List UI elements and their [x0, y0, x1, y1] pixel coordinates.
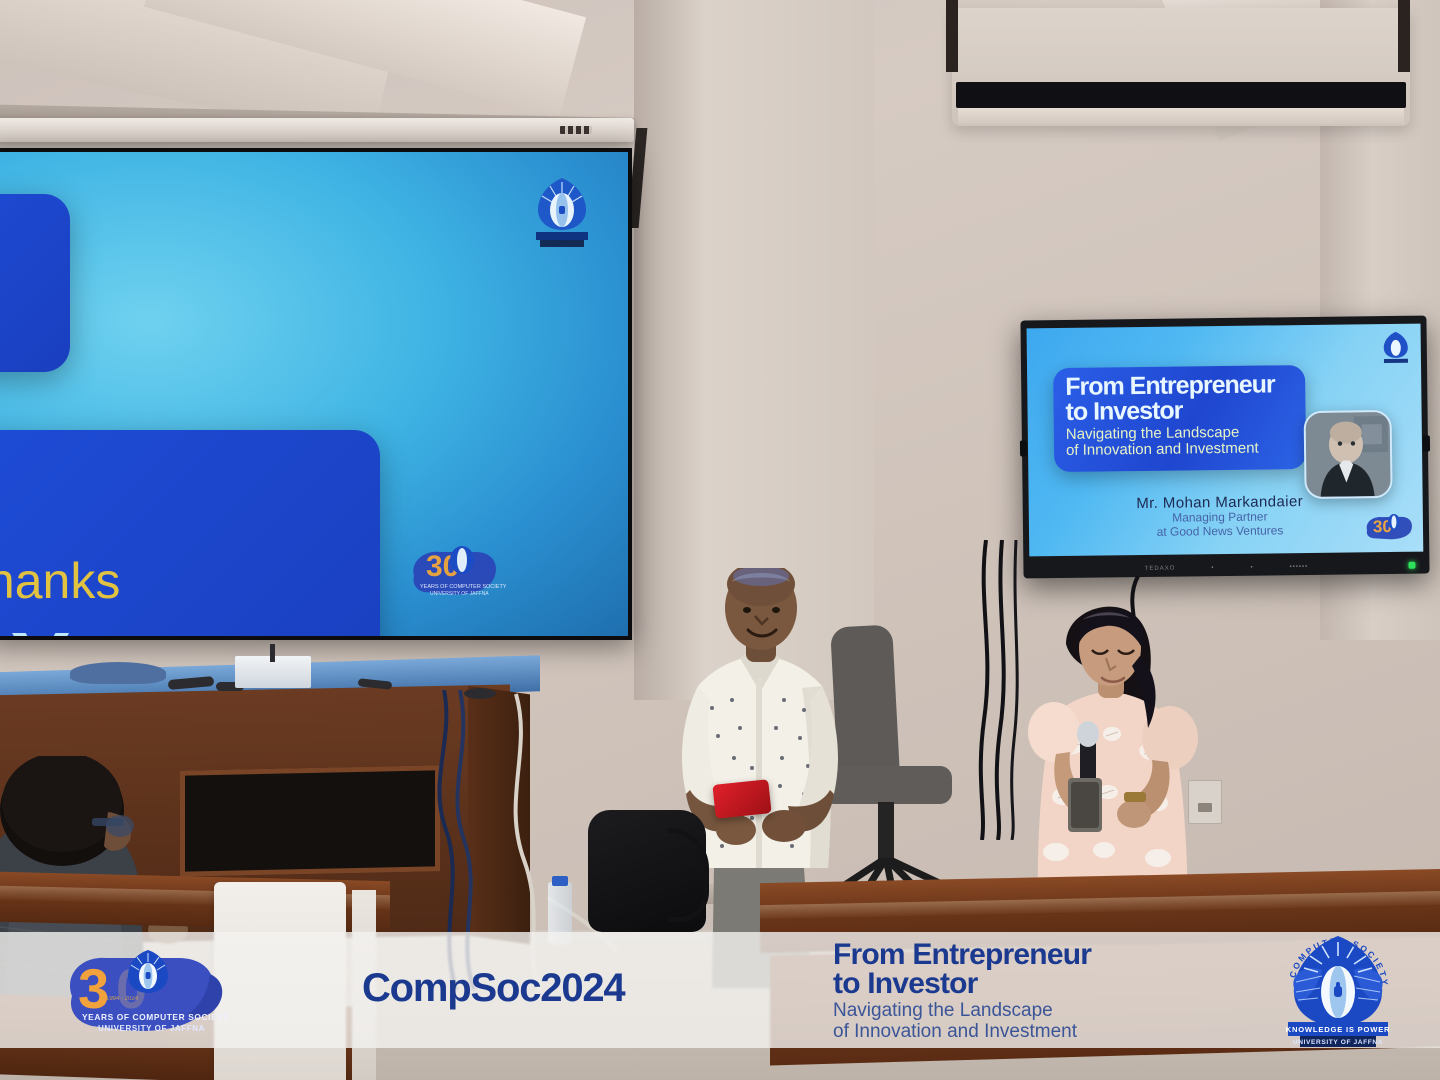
banner-subtitle-line-2: of Innovation and Investment [833, 1021, 1077, 1042]
thirty-years-logo-icon: 30 YEARS OF COMPUTER SOCIETY UNIVERSITY … [406, 532, 506, 608]
svg-text:3: 3 [78, 957, 109, 1020]
tv-speaker-block: Mr. Mohan Markandaier Managing Partner a… [1125, 493, 1316, 540]
svg-text:UNIVERSITY OF JAFFNA: UNIVERSITY OF JAFFNA [1293, 1039, 1383, 1046]
water-bottle-cap [552, 876, 568, 886]
tv-brand-label: TEDAXO [1145, 566, 1176, 572]
wall-tv: From Entrepreneur to Investor Navigating… [1020, 316, 1429, 579]
tv-title-line-2: to Investor [1065, 400, 1182, 424]
red-gift-box [712, 779, 771, 819]
svg-text:1994 - 2024: 1994 - 2024 [106, 996, 139, 1002]
computer-society-logo-icon [530, 174, 594, 250]
tv-control-dot-1[interactable]: • [1211, 565, 1214, 571]
banner-computer-society-logo-icon: COMPUTER SOCIETY KNOWLEDGE IS POWER UNIV… [1278, 930, 1398, 1050]
svg-text:UNIVERSITY OF JAFFNA: UNIVERSITY OF JAFFNA [430, 591, 489, 597]
slide-title-chip [0, 194, 70, 372]
slide-vote-of-thanks: e of Thanks [0, 552, 120, 610]
podium-pen [270, 644, 275, 662]
svg-text:YEARS OF COMPUTER SOCIETY: YEARS OF COMPUTER SOCIETY [82, 1012, 228, 1022]
svg-text:UNIVERSITY OF JAFFNA: UNIVERSITY OF JAFFNA [98, 1024, 205, 1033]
speaker-portrait-photo [1304, 410, 1393, 499]
tv-side-button-left[interactable] [1020, 440, 1027, 456]
tv-computer-society-logo-icon [1381, 330, 1411, 366]
podium-cloth-item [70, 662, 166, 684]
tv-power-led-icon [1408, 562, 1415, 569]
screenshot-root: neur e of Thanks ank You [0, 0, 1440, 1080]
banner-event-label: CompSoc2024 [362, 966, 624, 1011]
projector-slide-surface: neur e of Thanks ank You [0, 152, 628, 636]
projector-screen-roller [0, 118, 634, 142]
tv-speaker-role-2: at Good News Ventures [1125, 524, 1315, 540]
tv-subtitle-line-2: of Innovation and Investment [1066, 441, 1259, 460]
tv-thirty-years-logo-icon: 30 [1363, 506, 1417, 547]
tv-title-line-1: From Entrepreneur [1065, 373, 1275, 399]
ac-front-panel [958, 108, 1404, 124]
ac-recess-right-edge [1398, 0, 1410, 72]
banner-title: From Entrepreneur to Investor [833, 940, 1091, 999]
ac-vent-slot [956, 82, 1406, 108]
svg-text:YEARS OF COMPUTER SOCIETY: YEARS OF COMPUTER SOCIETY [420, 584, 506, 590]
tv-speaker-grill-icon: •••••• [1290, 564, 1309, 570]
slide-thank-you: ank You [0, 614, 168, 636]
banner-thirty-years-logo-icon: 3 0 YEARS OF COMPUTER SOCIETY UNIVERSITY… [58, 934, 228, 1046]
banner-title-line-2: to Investor [833, 969, 1091, 998]
ac-recess-left-edge [946, 0, 958, 72]
ac-unit [952, 8, 1410, 126]
banner-subtitle: Navigating the Landscape of Innovation a… [833, 1000, 1077, 1043]
tv-brand-strip: TEDAXO • • •••••• [1145, 564, 1309, 572]
banner-subtitle-line-1: Navigating the Landscape [833, 1000, 1077, 1021]
banner-title-line-1: From Entrepreneur [833, 940, 1091, 969]
svg-text:KNOWLEDGE IS POWER: KNOWLEDGE IS POWER [1286, 1025, 1391, 1034]
tv-control-dot-2[interactable]: • [1250, 565, 1253, 571]
roller-vent-icon [560, 126, 592, 134]
tv-side-button-right[interactable] [1423, 435, 1430, 451]
tv-screen-surface: From Entrepreneur to Investor Navigating… [1027, 324, 1424, 557]
projector-screen: neur e of Thanks ank You [0, 148, 632, 640]
